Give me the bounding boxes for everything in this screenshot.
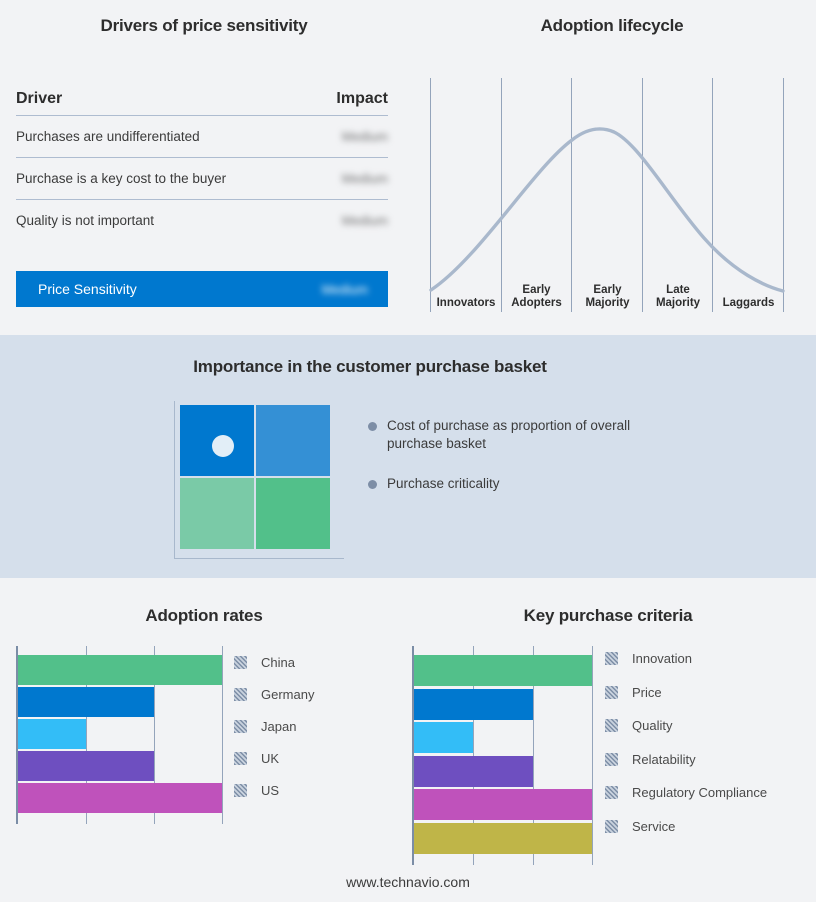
chart-gridline xyxy=(592,646,593,865)
bar-germany xyxy=(18,687,154,717)
adoption-rates-title: Adoption rates xyxy=(0,606,408,626)
bar-fill xyxy=(18,719,86,749)
legend-swatch-hatch-icon xyxy=(605,820,618,833)
bar-japan xyxy=(18,719,86,749)
purchase-basket-matrix xyxy=(180,405,332,552)
legend-item: Quality xyxy=(605,709,767,743)
bar-fill xyxy=(414,689,533,720)
driver-label: Purchases are undifferentiated xyxy=(16,129,296,144)
bar-price xyxy=(414,689,533,720)
legend-label: Germany xyxy=(261,687,314,702)
matrix-quadrant-bottom-left xyxy=(180,478,254,549)
legend-swatch-hatch-icon xyxy=(605,753,618,766)
driver-label: Quality is not important xyxy=(16,213,296,228)
price-sensitivity-highlight-row: Price Sensitivity Medium xyxy=(16,271,388,307)
bar-relatability xyxy=(414,756,533,787)
bar-fill xyxy=(414,756,533,787)
legend-label: Relatability xyxy=(632,752,696,767)
legend-item: Germany xyxy=(234,678,314,710)
footer-url: www.technavio.com xyxy=(0,874,816,890)
impact-value-redacted: Medium xyxy=(296,171,388,186)
bar-china xyxy=(18,655,222,685)
bar-regulatory-compliance xyxy=(414,789,592,820)
drivers-panel: Drivers of price sensitivity Driver Impa… xyxy=(0,0,408,335)
legend-bullet-icon xyxy=(368,422,377,431)
lifecycle-title: Adoption lifecycle xyxy=(408,16,816,36)
legend-swatch-hatch-icon xyxy=(605,652,618,665)
bar-fill xyxy=(18,751,154,781)
matrix-x-axis xyxy=(174,558,344,559)
bar-fill xyxy=(18,783,222,813)
legend-swatch-hatch-icon xyxy=(605,786,618,799)
bar-quality xyxy=(414,722,473,753)
legend-swatch-hatch-icon xyxy=(234,752,247,765)
legend-label: Regulatory Compliance xyxy=(632,785,767,800)
legend-item: Price xyxy=(605,676,767,710)
key-purchase-criteria-legend: InnovationPriceQualityRelatabilityRegula… xyxy=(605,642,767,843)
highlight-impact-redacted: Medium xyxy=(276,282,368,297)
matrix-quadrant-top-left xyxy=(180,405,254,476)
stage-text: Laggards xyxy=(723,297,775,309)
legend-item: Relatability xyxy=(605,743,767,777)
adoption-rates-panel: Adoption rates ChinaGermanyJapanUKUS xyxy=(0,578,408,902)
stage-text-line1: Early xyxy=(522,284,550,296)
legend-item: Japan xyxy=(234,710,314,742)
driver-label: Purchase is a key cost to the buyer xyxy=(16,171,296,186)
adoption-bell-curve xyxy=(431,129,783,291)
key-purchase-criteria-title: Key purchase criteria xyxy=(400,606,816,626)
legend-item: UK xyxy=(234,742,314,774)
legend-label: Cost of purchase as proportion of overal… xyxy=(387,417,637,453)
key-purchase-criteria-chart xyxy=(412,646,592,842)
legend-label: Price xyxy=(632,685,662,700)
importance-title: Importance in the customer purchase bask… xyxy=(0,357,740,377)
importance-panel: Importance in the customer purchase bask… xyxy=(0,335,816,578)
lifecycle-label-late-majority: Late Majority xyxy=(643,284,713,310)
legend-item: US xyxy=(234,774,314,806)
bar-fill xyxy=(414,722,473,753)
bar-fill xyxy=(414,655,592,686)
highlight-label: Price Sensitivity xyxy=(38,281,276,297)
matrix-legend: Cost of purchase as proportion of overal… xyxy=(368,417,668,515)
stage-text-line1: Early xyxy=(593,284,621,296)
matrix-quadrant-bottom-right xyxy=(256,478,330,549)
stage-text-line1: Late xyxy=(666,284,690,296)
legend-item: Innovation xyxy=(605,642,767,676)
bar-uk xyxy=(18,751,154,781)
adoption-rates-legend: ChinaGermanyJapanUKUS xyxy=(234,646,314,806)
legend-label: China xyxy=(261,655,295,670)
stage-text: Innovators xyxy=(437,297,496,309)
bar-innovation xyxy=(414,655,592,686)
lifecycle-chart: Innovators Early Adopters Early Majority… xyxy=(424,78,800,313)
stage-text-line2: Adopters xyxy=(511,297,561,309)
adoption-rates-chart xyxy=(16,646,222,810)
lifecycle-gridlines xyxy=(431,78,784,312)
legend-label: Service xyxy=(632,819,675,834)
bar-fill xyxy=(414,789,592,820)
lifecycle-curve-svg xyxy=(424,78,800,313)
bar-service xyxy=(414,823,592,854)
drivers-table-header: Driver Impact xyxy=(16,90,388,116)
legend-swatch-hatch-icon xyxy=(234,784,247,797)
legend-label: US xyxy=(261,783,279,798)
drivers-table: Driver Impact Purchases are undifferenti… xyxy=(16,90,388,241)
bar-fill xyxy=(18,687,154,717)
legend-swatch-hatch-icon xyxy=(605,719,618,732)
column-header-impact: Impact xyxy=(296,90,388,108)
lifecycle-label-early-adopters: Early Adopters xyxy=(501,284,572,310)
impact-value-redacted: Medium xyxy=(296,213,388,228)
chart-gridline xyxy=(222,646,223,824)
bar-fill xyxy=(414,823,592,854)
legend-label: Quality xyxy=(632,718,672,733)
legend-label: Purchase criticality xyxy=(387,475,500,493)
stage-text-line2: Majority xyxy=(585,297,629,309)
lifecycle-panel: Adoption lifecycle Innovators Early Adop… xyxy=(408,0,816,335)
legend-swatch-hatch-icon xyxy=(605,686,618,699)
legend-item: Regulatory Compliance xyxy=(605,776,767,810)
legend-label: Innovation xyxy=(632,651,692,666)
matrix-position-marker xyxy=(212,435,234,457)
impact-value-redacted: Medium xyxy=(296,129,388,144)
legend-item: Purchase criticality xyxy=(368,475,668,493)
stage-text-line2: Majority xyxy=(656,297,700,309)
key-purchase-criteria-panel: Key purchase criteria InnovationPriceQua… xyxy=(400,578,816,902)
drivers-title: Drivers of price sensitivity xyxy=(0,16,408,36)
lifecycle-label-early-majority: Early Majority xyxy=(572,284,643,310)
legend-item: Service xyxy=(605,810,767,844)
lifecycle-label-innovators: Innovators xyxy=(430,297,502,310)
legend-item: Cost of purchase as proportion of overal… xyxy=(368,417,668,453)
legend-bullet-icon xyxy=(368,480,377,489)
legend-swatch-hatch-icon xyxy=(234,656,247,669)
lifecycle-label-laggards: Laggards xyxy=(713,297,784,310)
legend-swatch-hatch-icon xyxy=(234,720,247,733)
matrix-quadrant-top-right xyxy=(256,405,330,476)
legend-label: Japan xyxy=(261,719,296,734)
bar-fill xyxy=(18,655,222,685)
table-row: Quality is not important Medium xyxy=(16,200,388,241)
legend-label: UK xyxy=(261,751,279,766)
legend-item: China xyxy=(234,646,314,678)
matrix-y-axis xyxy=(174,401,175,559)
legend-swatch-hatch-icon xyxy=(234,688,247,701)
table-row: Purchase is a key cost to the buyer Medi… xyxy=(16,158,388,200)
column-header-driver: Driver xyxy=(16,90,296,108)
bar-us xyxy=(18,783,222,813)
table-row: Purchases are undifferentiated Medium xyxy=(16,116,388,158)
